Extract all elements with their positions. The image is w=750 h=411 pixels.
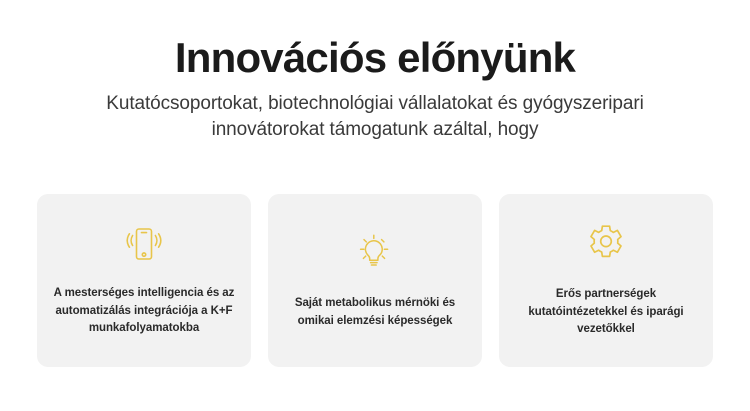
page-title: Innovációs előnyünk — [0, 34, 750, 81]
innovation-advantages-section: Innovációs előnyünk Kutatócsoportokat, b… — [0, 0, 750, 411]
page-subtitle: Kutatócsoportokat, biotechnológiai válla… — [103, 91, 648, 143]
feature-card-text: A mesterséges intelligencia és az automa… — [49, 285, 239, 337]
gear-icon — [583, 220, 629, 266]
vibrating-phone-icon — [121, 221, 167, 267]
feature-card-partnerships[interactable]: Erős partnerségek kutatóintézetekkel és … — [499, 194, 713, 367]
section-header: Innovációs előnyünk Kutatócsoportokat, b… — [0, 0, 750, 143]
feature-card-metabolic-engineering[interactable]: Saját metabolikus mérnöki és omikai elem… — [268, 194, 482, 367]
feature-card-text: Erős partnerségek kutatóintézetekkel és … — [511, 286, 701, 338]
feature-card-ai-automation[interactable]: A mesterséges intelligencia és az automa… — [37, 194, 251, 367]
feature-card-list: A mesterséges intelligencia és az automa… — [37, 194, 713, 367]
feature-card-text: Saját metabolikus mérnöki és omikai elem… — [280, 295, 470, 330]
lightbulb-icon — [352, 229, 398, 275]
